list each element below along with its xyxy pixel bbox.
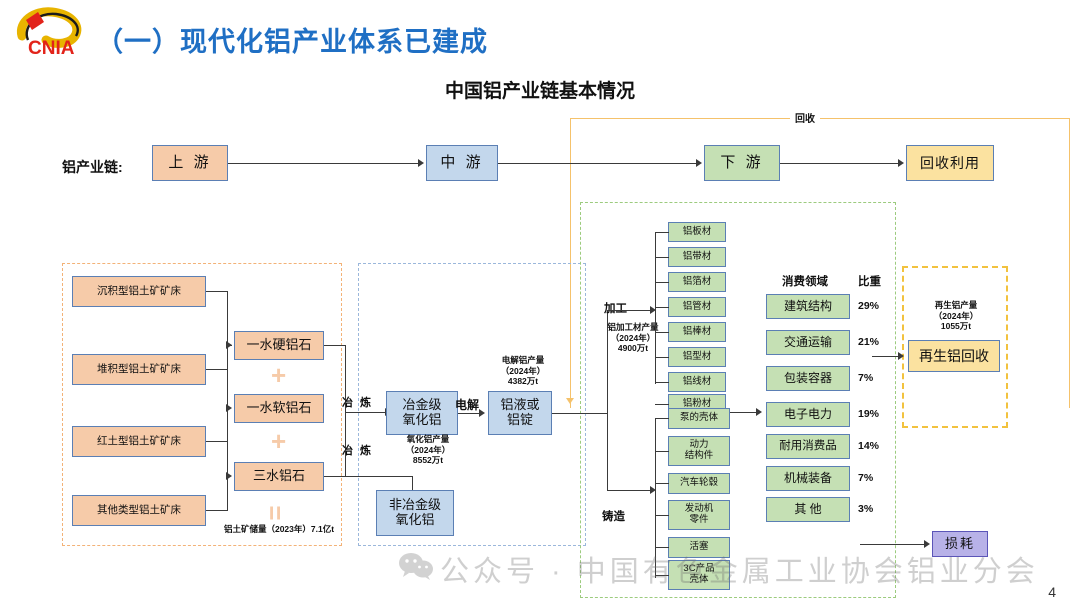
chain-node-recycling[interactable]: 回收利用	[906, 145, 994, 181]
ore-box-3[interactable]: 三水铝石	[234, 462, 324, 491]
casting-item-2-label: 动力 结构件	[685, 440, 714, 462]
metallurgical-alumina-box[interactable]: 冶金级 氧化铝	[386, 391, 458, 435]
consumption-row-3-share: 7%	[858, 372, 873, 384]
non-metallurgical-alumina-label: 非冶金级 氧化铝	[389, 498, 441, 528]
casting-item-2[interactable]: 动力 结构件	[668, 436, 730, 466]
processing-item-5[interactable]: 铝棒材	[668, 322, 726, 342]
smelt-label-2: 冶 炼	[342, 442, 373, 458]
ore-2-arrow	[226, 404, 232, 412]
chain-node-upstream[interactable]: 上 游	[152, 145, 228, 181]
proc-stub-4	[655, 307, 669, 308]
consumption-row-4-share: 19%	[858, 408, 879, 420]
deposit-2-line	[206, 369, 228, 370]
electrolysis-label: 电解	[455, 396, 479, 413]
consumption-feed-line	[730, 412, 758, 413]
cast-stub-1	[655, 418, 669, 419]
downstream-group-border	[580, 202, 896, 598]
consumption-row-6-share: 7%	[858, 472, 873, 484]
deposit-box-2[interactable]: 堆积型铝土矿矿床	[72, 354, 206, 385]
electrolytic-output-note: 电解铝产量 （2024年） 4382万t	[478, 355, 568, 387]
consumption-row-7-field[interactable]: 其 他	[766, 497, 850, 522]
chain-node-midstream[interactable]: 中 游	[426, 145, 498, 181]
non-metallurgical-alumina-box[interactable]: 非冶金级 氧化铝	[376, 490, 454, 536]
proc-stub-2	[655, 257, 669, 258]
consumption-row-3-field[interactable]: 包装容器	[766, 366, 850, 391]
wechat-icon	[398, 552, 434, 580]
loss-feed-line	[860, 544, 924, 545]
proc-stub-8	[655, 404, 669, 405]
deposit-box-1[interactable]: 沉积型铝土矿矿床	[72, 276, 206, 307]
consumption-row-5-share: 14%	[858, 440, 879, 452]
casting-feed-line	[607, 490, 651, 491]
chart-title: 中国铝产业链基本情况	[0, 76, 1080, 103]
consumption-row-2-share: 21%	[858, 336, 879, 348]
processing-item-3[interactable]: 铝箔材	[668, 272, 726, 292]
chain-arrow-3-head	[898, 159, 904, 167]
cast-stub-4	[655, 515, 669, 516]
bauxite-reserve-note: 铝土矿储量（2023年）7.1亿t	[205, 524, 353, 535]
consumption-row-1-field[interactable]: 建筑结构	[766, 294, 850, 319]
deposit-3-line	[206, 441, 228, 442]
recycle-bracket-label: 回收	[790, 110, 820, 125]
processing-item-6[interactable]: 铝型材	[668, 347, 726, 367]
recycling-feed-arrow	[898, 352, 904, 360]
alumina-output-note: 氧化铝产量 （2024年） 8552万t	[380, 434, 476, 466]
ore-3-out	[324, 476, 346, 477]
casting-item-4-label: 发动机 零件	[685, 504, 714, 526]
equals-symbol: =	[263, 505, 289, 520]
smelt-line-2-h	[345, 476, 413, 477]
deposit-box-4[interactable]: 其他类型铝土矿床	[72, 495, 206, 526]
casting-item-3[interactable]: 汽车轮毂	[668, 473, 730, 494]
deposit-4-line	[206, 510, 228, 511]
cast-stub-2	[655, 451, 669, 452]
cnia-logo-icon: CNIA	[8, 6, 92, 62]
aluminum-liquid-ingot-label: 铝液或 铝锭	[500, 398, 539, 428]
metallurgical-alumina-label: 冶金级 氧化铝	[402, 398, 441, 428]
consumption-row-4-field[interactable]: 电子电力	[766, 402, 850, 427]
recycled-output-note: 再生铝产量 （2024年） 1055万t	[912, 300, 1000, 332]
consumption-row-2-field[interactable]: 交通运输	[766, 330, 850, 355]
proc-stub-1	[655, 232, 669, 233]
consumption-row-5-field[interactable]: 耐用消费品	[766, 434, 850, 459]
recycled-aluminum-box[interactable]: 再生铝回收	[908, 340, 1000, 372]
ore-box-1[interactable]: 一水硬铝石	[234, 331, 324, 360]
ore-3-arrow	[226, 472, 232, 480]
processing-output-note: 铝加工材产量 （2024年） 4900万t	[587, 322, 679, 354]
casting-item-1[interactable]: 泵的壳体	[668, 408, 730, 429]
chain-arrow-1-line	[228, 163, 418, 164]
casting-label: 铸造	[602, 508, 625, 524]
chain-arrow-3-line	[780, 163, 898, 164]
proc-stub-3	[655, 282, 669, 283]
processing-feed-line	[607, 310, 651, 311]
consumption-row-6-field[interactable]: 机械装备	[766, 466, 850, 491]
chain-label: 铝产业链:	[62, 157, 123, 177]
smelt-line-1	[345, 412, 387, 413]
page-number: 4	[1048, 584, 1056, 600]
deposit-1-line	[206, 291, 228, 292]
processing-label: 加工	[604, 300, 627, 316]
proc-stub-6	[655, 357, 669, 358]
ore-box-2[interactable]: 一水软铝石	[234, 394, 324, 423]
electrolysis-line	[458, 413, 480, 414]
cast-stub-3	[655, 483, 669, 484]
smelt-label-1: 冶 炼	[342, 394, 373, 410]
plus-symbol-2: +	[271, 428, 286, 454]
consumption-field-header: 消费领域	[782, 273, 828, 289]
chain-arrow-2-line	[498, 163, 696, 164]
processing-item-2[interactable]: 铝带材	[668, 247, 726, 267]
processing-item-7[interactable]: 铝线材	[668, 372, 726, 392]
chain-arrow-1-head	[418, 159, 424, 167]
consumption-feed-arrow	[756, 408, 762, 416]
processing-item-4[interactable]: 铝管材	[668, 297, 726, 317]
proc-stub-7	[655, 382, 669, 383]
consumption-row-7-share: 3%	[858, 503, 873, 515]
consumption-row-1-share: 29%	[858, 300, 879, 312]
consumption-share-header: 比重	[858, 273, 881, 289]
proc-stub-5	[655, 332, 669, 333]
electrolysis-arrow	[479, 409, 485, 417]
aluminum-liquid-ingot-box[interactable]: 铝液或 铝锭	[488, 391, 552, 435]
casting-item-4[interactable]: 发动机 零件	[668, 500, 730, 530]
chain-node-downstream[interactable]: 下 游	[704, 145, 780, 181]
midstream-out-line	[552, 413, 608, 414]
recycling-feed-line	[872, 356, 900, 357]
processing-item-1[interactable]: 铝板材	[668, 222, 726, 242]
page-title: （一）现代化铝产业体系已建成	[96, 20, 488, 59]
loss-feed-arrow	[924, 540, 930, 548]
deposit-box-3[interactable]: 红土型铝土矿矿床	[72, 426, 206, 457]
logo-text: CNIA	[28, 38, 75, 59]
chain-arrow-2-head	[696, 159, 702, 167]
plus-symbol-1: +	[271, 362, 286, 388]
ore-1-arrow	[226, 341, 232, 349]
watermark-text: 公众号 · 中国有色金属工业协会铝业分会	[440, 548, 1039, 590]
ore-1-out	[324, 345, 346, 346]
